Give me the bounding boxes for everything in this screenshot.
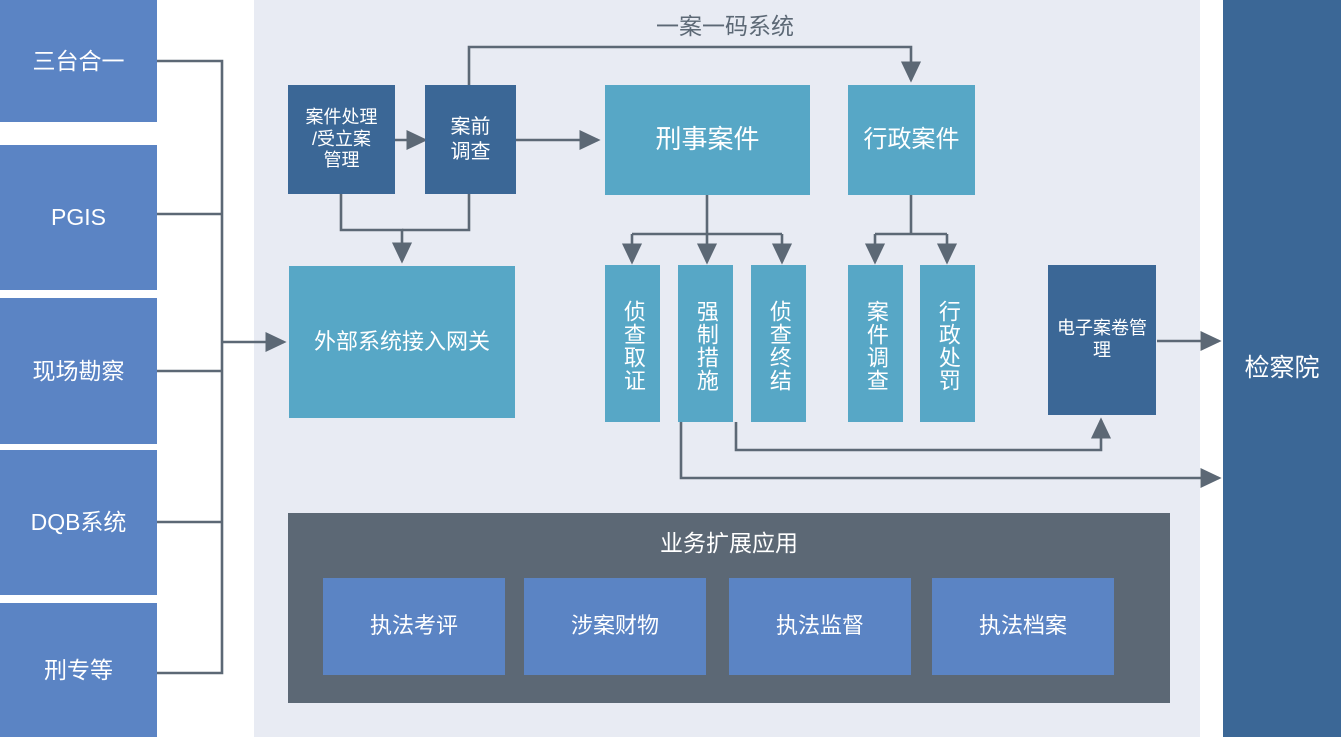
diagram-canvas: 一案一码系统 三台合一 PGIS 现场勘察 DQB系统 刑专等 案件处理 /受立… — [0, 0, 1341, 737]
node-administrative-case[interactable]: 行政案件 — [848, 85, 975, 195]
external-system-xingZhuanDeng[interactable]: 刑专等 — [0, 603, 157, 737]
node-criminal-step-conclusion[interactable]: 侦查终结 — [751, 265, 806, 422]
node-external-gateway[interactable]: 外部系统接入网关 — [289, 266, 515, 418]
node-pre-investigation[interactable]: 案前调查 — [425, 85, 516, 194]
external-system-pgis[interactable]: PGIS — [0, 145, 157, 290]
business-extension-title: 业务扩展应用 — [288, 524, 1170, 558]
diagram-title: 一案一码系统 — [560, 8, 890, 40]
node-case-intake-line2: /受立案 — [306, 129, 378, 151]
external-system-xianChangKanCha[interactable]: 现场勘察 — [0, 298, 157, 444]
app-tile-enforcement-supervision[interactable]: 执法监督 — [729, 578, 911, 675]
node-case-intake-line1: 案件处理 — [306, 107, 378, 129]
node-procuratorate[interactable]: 检察院 — [1223, 0, 1341, 737]
node-criminal-step-evidence[interactable]: 侦查取证 — [605, 265, 660, 422]
external-system-sanTaiHeYi[interactable]: 三台合一 — [0, 0, 157, 122]
node-case-intake[interactable]: 案件处理 /受立案 管理 — [288, 85, 395, 194]
node-criminal-case[interactable]: 刑事案件 — [605, 85, 810, 195]
app-tile-enforcement-evaluation[interactable]: 执法考评 — [323, 578, 505, 675]
node-case-intake-line3: 管理 — [306, 150, 378, 172]
node-admin-step-penalty[interactable]: 行政处罚 — [920, 265, 975, 422]
app-tile-case-property[interactable]: 涉案财物 — [524, 578, 706, 675]
node-criminal-step-coercive[interactable]: 强制措施 — [678, 265, 733, 422]
node-admin-step-investigation[interactable]: 案件调查 — [848, 265, 903, 422]
external-system-dqb[interactable]: DQB系统 — [0, 450, 157, 595]
app-tile-enforcement-archive[interactable]: 执法档案 — [932, 578, 1114, 675]
node-electronic-case-file[interactable]: 电子案卷管理 — [1048, 265, 1156, 415]
node-electronic-case-file-label: 电子案卷管理 — [1057, 318, 1147, 362]
node-pre-investigation-label: 案前调查 — [449, 115, 493, 164]
